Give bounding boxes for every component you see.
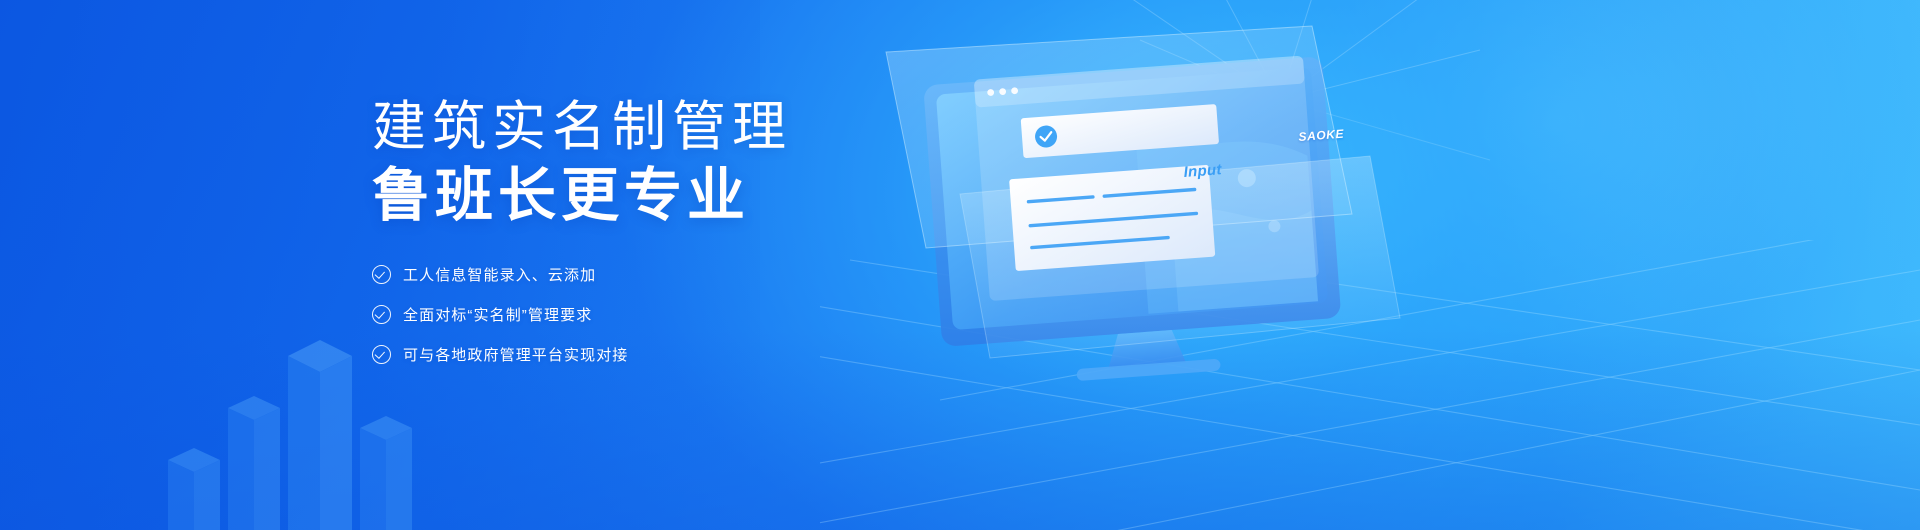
check-circle-icon [372, 265, 391, 284]
feature-bullet-2-label: 全面对标“实名制”管理要求 [403, 304, 592, 325]
hero-copy: 建筑实名制管理 鲁班长更专业 工人信息智能录入、云添加 全面对标“实名制”管理要… [372, 96, 892, 380]
feature-bullet-3-label: 可与各地政府管理平台实现对接 [403, 344, 628, 365]
input-field-label: Input [1183, 161, 1222, 181]
hero-banner: SAOKE Input [0, 0, 1920, 530]
check-circle-icon [372, 345, 391, 364]
feature-bullet-1-label: 工人信息智能录入、云添加 [403, 264, 596, 285]
headline-primary: 建筑实名制管理 [372, 96, 892, 160]
headline-secondary: 鲁班长更专业 [372, 162, 892, 230]
feature-bullet-3: 可与各地政府管理平台实现对接 [372, 340, 892, 368]
feature-bullet-2: 全面对标“实名制”管理要求 [372, 300, 892, 328]
check-circle-icon [372, 305, 391, 324]
feature-bullet-1: 工人信息智能录入、云添加 [372, 260, 892, 288]
monitor-illustration [840, 18, 1440, 438]
feature-bullet-list: 工人信息智能录入、云添加 全面对标“实名制”管理要求 可与各地政府管理平台实现对… [372, 260, 892, 368]
